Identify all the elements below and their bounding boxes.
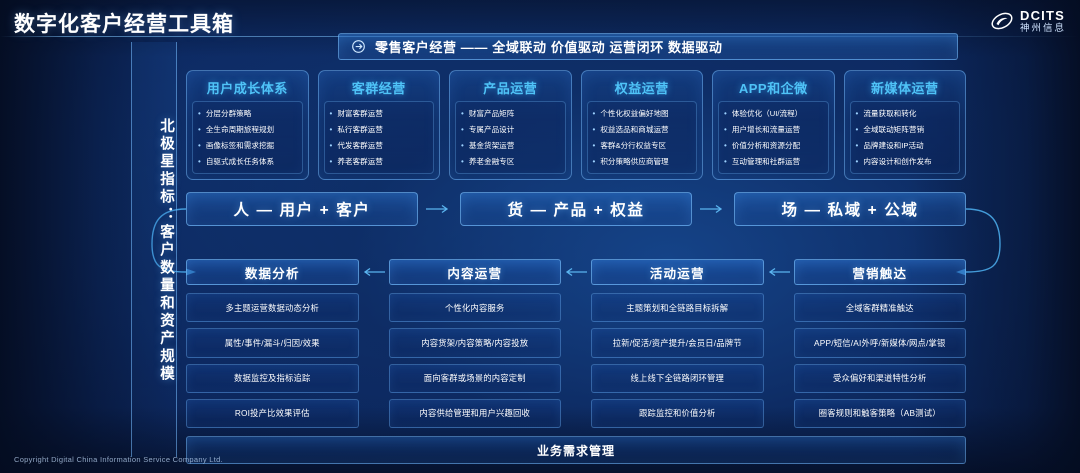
operations-column: 个性化内容服务内容货架/内容策略/内容投放面向客群或场景的内容定制内容供给管理和… (389, 293, 562, 428)
capability-card[interactable]: APP和企微•体验优化（UI/流程）•用户增长和流量运营•价值分析和资源分配•互… (712, 70, 835, 180)
operations-cell[interactable]: 属性/事件/漏斗/归因/效果 (186, 328, 359, 357)
list-item: •权益选品和商城运营 (593, 126, 694, 135)
operations-cell[interactable]: 多主题运营数据动态分析 (186, 293, 359, 322)
capability-card-title: 客群经营 (352, 78, 406, 97)
list-item: •积分策略供应商管理 (593, 158, 694, 167)
bullet-dot-icon: • (461, 110, 464, 119)
list-item-label: 品牌建设和IP活动 (863, 142, 923, 151)
list-item: •体验优化（UI/流程） (724, 110, 825, 119)
capability-card-title: 新媒体运营 (871, 78, 939, 97)
capability-card[interactable]: 用户成长体系•分层分群策略•全生命周期旅程规划•画像标签和需求挖掘•自驱式成长任… (186, 70, 309, 180)
list-item-label: 全生命周期旅程规划 (206, 126, 274, 135)
list-item-label: 分层分群策略 (206, 110, 252, 119)
list-item: •专属产品设计 (461, 126, 562, 135)
bullet-dot-icon: • (724, 110, 727, 119)
page-title: 数字化客户经营工具箱 (14, 8, 234, 38)
operations-column: 主题策划和全链路目标拆解拉新/促活/资产提升/会员日/品牌节线上线下全链路闭环管… (591, 293, 764, 428)
list-item-label: 私行客群运营 (337, 126, 383, 135)
business-demand-bar: 业务需求管理 (186, 436, 966, 464)
list-item-label: 内容设计和创作发布 (863, 158, 931, 167)
operations-cell[interactable]: 内容货架/内容策略/内容投放 (389, 328, 562, 357)
operations-header[interactable]: 活动运营 (591, 259, 764, 285)
bullet-dot-icon: • (593, 158, 596, 167)
list-item: •流量获取和转化 (856, 110, 957, 119)
bullet-dot-icon: • (461, 142, 464, 151)
bullet-dot-icon: • (461, 158, 464, 167)
flow-box[interactable]: 人 — 用户 + 客户 (186, 192, 418, 226)
list-item: •用户增长和流量运营 (724, 126, 825, 135)
list-item-label: 价值分析和资源分配 (732, 142, 800, 151)
operations-cell[interactable]: 个性化内容服务 (389, 293, 562, 322)
list-item-label: 用户增长和流量运营 (732, 126, 800, 135)
list-item: •画像标签和需求挖掘 (198, 142, 299, 151)
capability-card[interactable]: 新媒体运营•流量获取和转化•全域联动矩阵营销•品牌建设和IP活动•内容设计和创作… (844, 70, 967, 180)
operations-cell[interactable]: 数据监控及指标追踪 (186, 364, 359, 393)
capability-card-body: •财富产品矩阵•专属产品设计•基金货架运营•养老金融专区 (455, 101, 566, 174)
list-item: •私行客群运营 (330, 126, 431, 135)
capability-card[interactable]: 客群经营•财富客群运营•私行客群运营•代发客群运营•养老客群运营 (318, 70, 441, 180)
list-item: •个性化权益偏好地图 (593, 110, 694, 119)
dcits-swirl-mark-icon (990, 9, 1014, 33)
list-item-label: 养老客群运营 (337, 158, 383, 167)
capability-card-title: 权益运营 (615, 78, 669, 97)
list-item: •养老客群运营 (330, 158, 431, 167)
operations-column: 多主题运营数据动态分析属性/事件/漏斗/归因/效果数据监控及指标追踪ROI投产比… (186, 293, 359, 428)
list-item-label: 全域联动矩阵营销 (863, 126, 924, 135)
list-item-label: 互动管理和社群运营 (732, 158, 800, 167)
operations-header[interactable]: 营销触达 (794, 259, 967, 285)
list-item: •财富产品矩阵 (461, 110, 562, 119)
flow-box[interactable]: 货 — 产品 + 权益 (460, 192, 692, 226)
bullet-dot-icon: • (198, 126, 201, 135)
capability-card-body: •财富客群运营•私行客群运营•代发客群运营•养老客群运营 (324, 101, 435, 174)
banner-text: 零售客户经营 —— 全域联动 价值驱动 运营闭环 数据驱动 (375, 37, 722, 56)
bullet-dot-icon: • (330, 142, 333, 151)
capability-card-body: •体验优化（UI/流程）•用户增长和流量运营•价值分析和资源分配•互动管理和社群… (718, 101, 829, 174)
list-item: •品牌建设和IP活动 (856, 142, 957, 151)
brand-logo: DCITS 神州信息 (990, 9, 1066, 34)
list-item-label: 客群&分行权益专区 (600, 142, 666, 151)
bullet-dot-icon: • (461, 126, 464, 135)
operations-header[interactable]: 数据分析 (186, 259, 359, 285)
arrow-right-icon (418, 203, 460, 215)
list-item-label: 财富客群运营 (337, 110, 383, 119)
list-item: •代发客群运营 (330, 142, 431, 151)
list-item-label: 权益选品和商城运营 (600, 126, 668, 135)
list-item-label: 个性化权益偏好地图 (600, 110, 668, 119)
bullet-dot-icon: • (198, 158, 201, 167)
list-item-label: 财富产品矩阵 (469, 110, 515, 119)
copyright-text: Copyright Digital China Information Serv… (14, 455, 223, 464)
list-item: •财富客群运营 (330, 110, 431, 119)
arrow-left-icon (764, 266, 794, 278)
bullet-dot-icon: • (856, 110, 859, 119)
operations-column: 全域客群精准触达APP/短信/AI外呼/新媒体/网点/掌银受众偏好和渠道特性分析… (794, 293, 967, 428)
bullet-dot-icon: • (856, 126, 859, 135)
list-item: •基金货架运营 (461, 142, 562, 151)
capability-card[interactable]: 权益运营•个性化权益偏好地图•权益选品和商城运营•客群&分行权益专区•积分策略供… (581, 70, 704, 180)
logo-cn-text: 神州信息 (1020, 24, 1066, 34)
bullet-dot-icon: • (724, 158, 727, 167)
list-item-label: 专属产品设计 (469, 126, 515, 135)
operations-cell[interactable]: 拉新/促活/资产提升/会员日/品牌节 (591, 328, 764, 357)
operations-cell[interactable]: 主题策划和全链路目标拆解 (591, 293, 764, 322)
people-goods-place-row: 人 — 用户 + 客户货 — 产品 + 权益场 — 私域 + 公域 (186, 192, 966, 226)
capability-card-row: 用户成长体系•分层分群策略•全生命周期旅程规划•画像标签和需求挖掘•自驱式成长任… (186, 70, 966, 180)
list-item-label: 画像标签和需求挖掘 (206, 142, 274, 151)
list-item: •分层分群策略 (198, 110, 299, 119)
list-item-label: 自驱式成长任务体系 (206, 158, 274, 167)
operations-cell[interactable]: APP/短信/AI外呼/新媒体/网点/掌银 (794, 328, 967, 357)
operations-cell[interactable]: 线上线下全链路闭环管理 (591, 364, 764, 393)
operations-grid: 多主题运营数据动态分析属性/事件/漏斗/归因/效果数据监控及指标追踪ROI投产比… (186, 293, 966, 428)
list-item-label: 体验优化（UI/流程） (732, 110, 802, 119)
capability-card-title: APP和企微 (739, 78, 808, 97)
capability-card-body: •分层分群策略•全生命周期旅程规划•画像标签和需求挖掘•自驱式成长任务体系 (192, 101, 303, 174)
logo-en-text: DCITS (1020, 9, 1066, 22)
bullet-dot-icon: • (198, 110, 201, 119)
capability-card-title: 用户成长体系 (207, 78, 288, 97)
list-item: •客群&分行权益专区 (593, 142, 694, 151)
list-item: •自驱式成长任务体系 (198, 158, 299, 167)
bullet-dot-icon: • (724, 126, 727, 135)
bullet-dot-icon: • (856, 158, 859, 167)
operations-cell[interactable]: 受众偏好和渠道特性分析 (794, 364, 967, 393)
bullet-dot-icon: • (593, 126, 596, 135)
arrow-right-icon (692, 203, 734, 215)
list-item: •养老金融专区 (461, 158, 562, 167)
bullet-dot-icon: • (330, 126, 333, 135)
bullet-dot-icon: • (724, 142, 727, 151)
arrow-left-icon (359, 266, 389, 278)
operations-cell[interactable]: ROI投产比效果评估 (186, 399, 359, 428)
slide-canvas: 数字化客户经营工具箱 DCITS 神州信息 北极星指标：客户数量和资产规模 零售… (0, 0, 1080, 473)
list-item: •价值分析和资源分配 (724, 142, 825, 151)
operations-header-row: 数据分析内容运营活动运营营销触达 (186, 259, 966, 285)
bullet-dot-icon: • (593, 110, 596, 119)
operations-cell[interactable]: 全域客群精准触达 (794, 293, 967, 322)
list-item: •全生命周期旅程规划 (198, 126, 299, 135)
capability-card-title: 产品运营 (483, 78, 537, 97)
list-item: •全域联动矩阵营销 (856, 126, 957, 135)
flow-box[interactable]: 场 — 私域 + 公域 (734, 192, 966, 226)
bullet-dot-icon: • (330, 158, 333, 167)
operations-cell[interactable]: 面向客群或场景的内容定制 (389, 364, 562, 393)
operations-cell[interactable]: 内容供给管理和用户兴趣回收 (389, 399, 562, 428)
list-item-label: 代发客群运营 (337, 142, 383, 151)
list-item: •内容设计和创作发布 (856, 158, 957, 167)
capability-card[interactable]: 产品运营•财富产品矩阵•专属产品设计•基金货架运营•养老金融专区 (449, 70, 572, 180)
bullet-dot-icon: • (856, 142, 859, 151)
target-arrow-icon (351, 39, 366, 54)
arrow-left-icon (561, 266, 591, 278)
list-item-label: 养老金融专区 (469, 158, 515, 167)
bullet-dot-icon: • (330, 110, 333, 119)
bullet-dot-icon: • (198, 142, 201, 151)
list-item-label: 基金货架运营 (469, 142, 515, 151)
operations-cell[interactable]: 圈客规则和触客策略（AB测试） (794, 399, 967, 428)
list-item-label: 流量获取和转化 (863, 110, 916, 119)
list-item-label: 积分策略供应商管理 (600, 158, 668, 167)
headline-banner: 零售客户经营 —— 全域联动 价值驱动 运营闭环 数据驱动 (338, 33, 958, 60)
bullet-dot-icon: • (593, 142, 596, 151)
capability-card-body: •流量获取和转化•全域联动矩阵营销•品牌建设和IP活动•内容设计和创作发布 (850, 101, 961, 174)
list-item: •互动管理和社群运营 (724, 158, 825, 167)
north-star-label: 北极星指标：客户数量和资产规模 (131, 66, 177, 436)
capability-card-body: •个性化权益偏好地图•权益选品和商城运营•客群&分行权益专区•积分策略供应商管理 (587, 101, 698, 174)
operations-header[interactable]: 内容运营 (389, 259, 562, 285)
operations-cell[interactable]: 跟踪监控和价值分析 (591, 399, 764, 428)
